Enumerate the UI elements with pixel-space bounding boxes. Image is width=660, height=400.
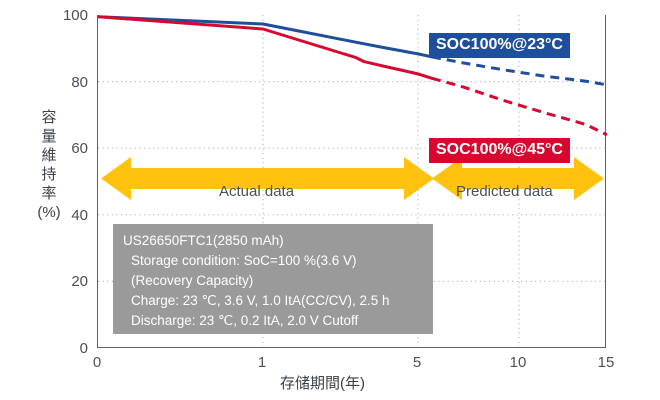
y-tick-20: 20 [48,274,88,289]
x-tick-0: 0 [77,355,117,370]
infobox-line-charge: Charge: 23 ℃, 3.6 V, 1.0 ItA(CC/CV), 2.5… [123,291,423,311]
x-tick-15: 15 [586,355,626,370]
y-tick-60: 60 [48,141,88,156]
predicted-data-label: Predicted data [456,183,553,200]
y-tick-0: 0 [48,341,88,356]
infobox-line-model: US26650FTC1(2850 mAh) [123,231,423,251]
chart-root: 容 量 維 持 率 (%) 100 80 60 40 20 0 0 1 5 10… [0,0,660,400]
x-tick-10: 10 [498,355,538,370]
x-tick-5: 5 [397,355,437,370]
infobox-line-recovery: (Recovery Capacity) [123,271,423,291]
legend-blue-soc100-23c[interactable]: SOC100%@23°C [429,33,570,58]
y-tick-80: 80 [48,75,88,90]
infobox-line-storage: Storage condition: SoC=100 %(3.6 V) [123,251,423,271]
y-tick-40: 40 [48,208,88,223]
y-tick-100: 100 [48,8,88,23]
actual-data-label: Actual data [219,183,294,200]
x-tick-1: 1 [242,355,282,370]
x-axis-label: 存储期間(年) [280,372,365,393]
legend-red-soc100-45c[interactable]: SOC100%@45°C [429,138,570,163]
y-axis-label-char-4: 率 [36,184,62,203]
conditions-infobox: US26650FTC1(2850 mAh) Storage condition:… [113,224,433,334]
infobox-line-discharge: Discharge: 23 ℃, 0.2 ItA, 2.0 V Cutoff [123,311,423,331]
y-axis-label-char-3: 持 [36,165,62,184]
series-blue-solid [98,17,432,57]
y-axis-label: 容 量 維 持 率 (%) [36,108,62,222]
y-axis-label-char-0: 容 [36,108,62,127]
